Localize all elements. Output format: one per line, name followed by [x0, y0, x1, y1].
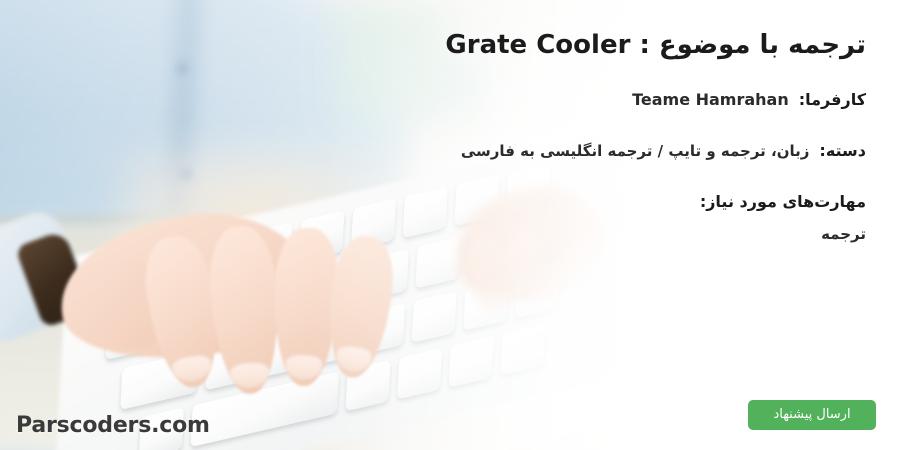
- submit-proposal-button[interactable]: ارسال پیشنهاد: [748, 400, 876, 430]
- skills-value[interactable]: ترجمه: [821, 225, 866, 243]
- category-label: دسته:: [819, 141, 866, 160]
- category-value[interactable]: زبان، ترجمه و تایپ / ترجمه انگلیسی به فا…: [461, 142, 810, 160]
- employer-value: Teame Hamrahan: [632, 90, 789, 109]
- skills-label: مهارت‌های مورد نیاز:: [700, 192, 866, 211]
- text-overlay: ترجمه با موضوع : Grate Cooler کارفرما:Te…: [0, 0, 900, 450]
- employer-label: کارفرما:: [799, 90, 866, 109]
- site-watermark: Parscoders.com: [16, 413, 210, 438]
- employer-row: کارفرما:Teame Hamrahan: [632, 90, 866, 109]
- page-title: ترجمه با موضوع : Grate Cooler: [445, 30, 866, 60]
- job-banner: ترجمه با موضوع : Grate Cooler کارفرما:Te…: [0, 0, 900, 450]
- category-row: دسته:زبان، ترجمه و تایپ / ترجمه انگلیسی …: [461, 141, 866, 160]
